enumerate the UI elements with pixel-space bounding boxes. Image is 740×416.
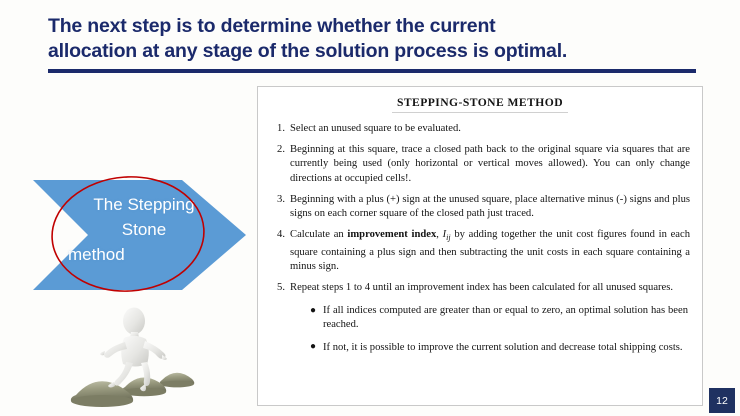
step-text: Repeat steps 1 to 4 until an improvement…	[290, 282, 673, 293]
method-outcome-bullets: ●If all indices computed are greater tha…	[258, 304, 702, 355]
list-item: ●If all indices computed are greater tha…	[310, 304, 688, 332]
step-number: 4.	[270, 228, 285, 242]
callout-label: The Stepping Stone method	[64, 192, 224, 267]
step-number: 2.	[270, 143, 285, 157]
method-step-2: 2.Beginning at this square, trace a clos…	[270, 143, 690, 186]
bullet-text: If all indices computed are greater than…	[323, 305, 688, 330]
bullet-dot-icon: ●	[310, 304, 316, 318]
improvement-index-symbol: Iij	[443, 229, 451, 240]
method-steps-list: 1.Select an unused square to be evaluate…	[258, 122, 702, 295]
page-title: The next step is to determine whether th…	[48, 14, 700, 64]
callout-label-line-2: Stone	[64, 217, 224, 242]
step-text: Select an unused square to be evaluated.	[290, 123, 461, 134]
step-text-lead: Calculate an	[290, 229, 347, 240]
method-step-5: 5.Repeat steps 1 to 4 until an improveme…	[270, 281, 690, 295]
step-number: 3.	[270, 193, 285, 207]
page-title-line-1: The next step is to determine whether th…	[48, 14, 700, 39]
callout-label-line-3: method	[64, 242, 224, 267]
bullet-text: If not, it is possible to improve the cu…	[323, 342, 683, 353]
page-title-line-2: allocation at any stage of the solution …	[48, 39, 700, 64]
step-number: 5.	[270, 281, 285, 295]
method-step-4: 4.Calculate an improvement index, Iij by…	[270, 228, 690, 274]
person-crossing-stepping-stones-icon	[62, 303, 207, 411]
method-step-3: 3.Beginning with a plus (+) sign at the …	[270, 193, 690, 221]
title-divider	[48, 69, 696, 73]
method-panel-title: STEPPING-STONE METHOD	[258, 96, 702, 109]
callout-label-line-1: The Stepping	[64, 192, 224, 217]
stepping-stone-callout[interactable]: The Stepping Stone method	[30, 172, 250, 298]
method-title-underline	[392, 112, 568, 113]
list-item: ●If not, it is possible to improve the c…	[310, 341, 688, 355]
bullet-dot-icon: ●	[310, 340, 316, 354]
step-text-emphasis: improvement index	[347, 229, 436, 240]
method-step-1: 1.Select an unused square to be evaluate…	[270, 122, 690, 136]
step-text: Beginning with a plus (+) sign at the un…	[290, 194, 690, 219]
step-number: 1.	[270, 122, 285, 136]
step-text: Beginning at this square, trace a closed…	[290, 144, 690, 183]
stepping-stone-method-panel: STEPPING-STONE METHOD 1.Select an unused…	[257, 86, 703, 406]
page-number-badge: 12	[709, 388, 735, 413]
